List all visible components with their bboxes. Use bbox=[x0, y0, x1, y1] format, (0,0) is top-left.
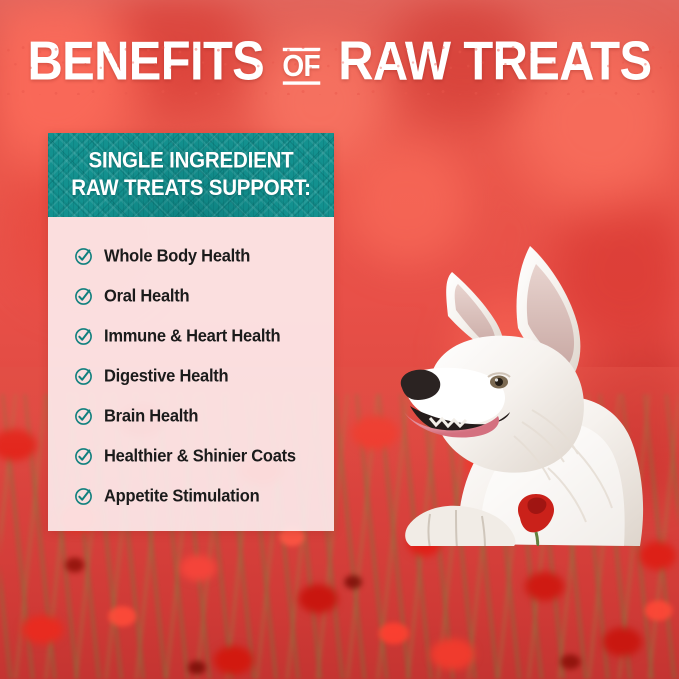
check-circle-icon bbox=[74, 327, 93, 346]
benefits-card-header: SINGLE INGREDIENT RAW TREATS SUPPORT: bbox=[48, 133, 334, 217]
list-item: Appetite Stimulation bbox=[48, 476, 334, 516]
list-item: Healthier & Shinier Coats bbox=[48, 436, 334, 476]
benefit-label: Appetite Stimulation bbox=[104, 487, 259, 505]
check-circle-icon bbox=[74, 367, 93, 386]
check-circle-icon bbox=[74, 487, 93, 506]
page-title: BENEFITS OF RAW TREATS bbox=[0, 37, 679, 85]
benefit-label: Healthier & Shinier Coats bbox=[104, 447, 296, 465]
list-item: Immune & Heart Health bbox=[48, 316, 334, 356]
heading-line-2: RAW TREATS SUPPORT: bbox=[71, 175, 311, 202]
benefit-label: Whole Body Health bbox=[104, 247, 250, 265]
headline-of: OF bbox=[282, 48, 320, 85]
heading-line-1: SINGLE INGREDIENT bbox=[71, 148, 311, 175]
benefits-card-heading: SINGLE INGREDIENT RAW TREATS SUPPORT: bbox=[65, 148, 317, 202]
check-circle-icon bbox=[74, 287, 93, 306]
check-circle-icon bbox=[74, 447, 93, 466]
poster: BENEFITS OF RAW TREATS SINGLE INGREDIENT… bbox=[0, 0, 679, 679]
benefits-list: Whole Body Health Oral Health Immune & H… bbox=[48, 217, 334, 516]
headline-part2: RAW TREATS bbox=[338, 33, 651, 88]
check-circle-icon bbox=[74, 247, 93, 266]
list-item: Oral Health bbox=[48, 276, 334, 316]
benefit-label: Digestive Health bbox=[104, 367, 228, 385]
check-circle-icon bbox=[74, 407, 93, 426]
headline-part1: BENEFITS bbox=[27, 33, 264, 88]
benefit-label: Brain Health bbox=[104, 407, 198, 425]
list-item: Whole Body Health bbox=[48, 236, 334, 276]
benefit-label: Immune & Heart Health bbox=[104, 327, 280, 345]
benefit-label: Oral Health bbox=[104, 287, 189, 305]
benefits-card: SINGLE INGREDIENT RAW TREATS SUPPORT: Wh… bbox=[48, 133, 334, 531]
dog-photo bbox=[372, 196, 672, 546]
list-item: Brain Health bbox=[48, 396, 334, 436]
list-item: Digestive Health bbox=[48, 356, 334, 396]
